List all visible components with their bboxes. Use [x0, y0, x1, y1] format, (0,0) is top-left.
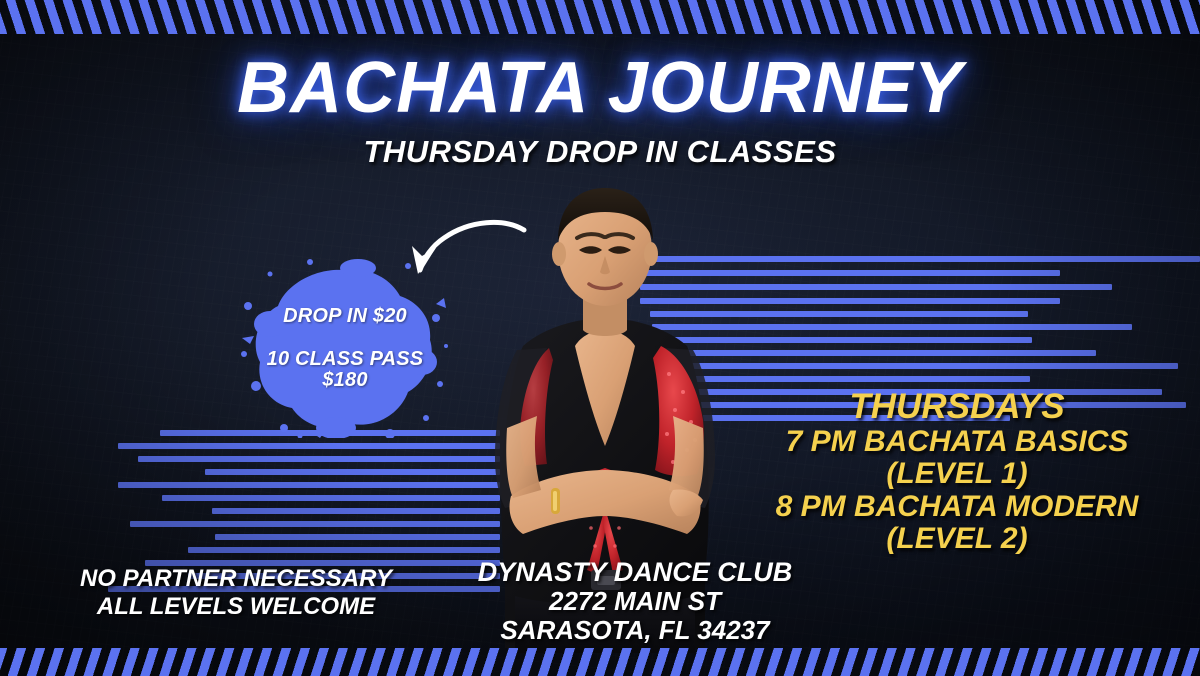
flyer-canvas: DROP IN $20 10 CLASS PASS $180 BACHATA J… [0, 0, 1200, 676]
schedule-class-1: 7 PM BACHATA BASICS [722, 426, 1192, 458]
venue-block: DYNASTY DANCE CLUB 2272 MAIN ST SARASOTA… [455, 557, 815, 645]
venue-street: 2272 MAIN ST [455, 587, 815, 616]
schedule-class-1-level: (LEVEL 1) [722, 458, 1192, 490]
schedule-class-2: 8 PM BACHATA MODERN [722, 491, 1192, 523]
speed-lines-left [130, 430, 500, 550]
schedule-class-2-level: (LEVEL 2) [722, 523, 1192, 555]
schedule-day: THURSDAYS [722, 388, 1192, 426]
headline-block: BACHATA JOURNEY THURSDAY DROP IN CLASSES [0, 52, 1200, 170]
page-title: BACHATA JOURNEY [0, 52, 1200, 124]
schedule-block: THURSDAYS 7 PM BACHATA BASICS (LEVEL 1) … [722, 388, 1192, 555]
page-subtitle: THURSDAY DROP IN CLASSES [0, 134, 1200, 170]
note-line-2: ALL LEVELS WELCOME [46, 593, 426, 621]
note-line-1: NO PARTNER NECESSARY [46, 565, 426, 593]
note-block: NO PARTNER NECESSARY ALL LEVELS WELCOME [46, 565, 426, 622]
venue-name: DYNASTY DANCE CLUB [455, 557, 815, 587]
class-pass-label: 10 CLASS PASS [267, 349, 424, 370]
drop-in-price: DROP IN $20 [283, 306, 407, 327]
class-pass-price: $180 [322, 370, 367, 391]
curved-arrow-icon [392, 212, 542, 292]
bottom-stripe-band [0, 636, 1200, 676]
top-stripe-band [0, 0, 1200, 34]
